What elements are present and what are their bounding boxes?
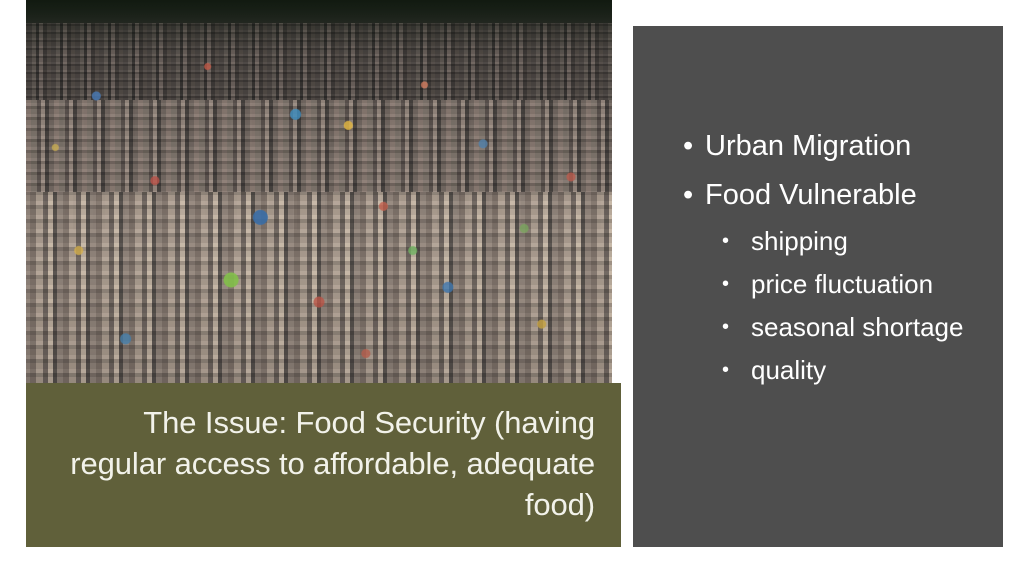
list-item: • Urban Migration [647,122,989,171]
slide-canvas: The Issue: Food Security (having regular… [0,0,1024,576]
list-item-label: price fluctuation [751,269,933,299]
hillside-city-photo [26,0,612,383]
bullet-point-icon: • [722,220,729,263]
list-item: • shipping [647,220,989,263]
list-item: • seasonal shortage [647,306,989,349]
bullet-list: • Urban Migration • Food Vulnerable • sh… [647,122,989,392]
bullet-point-icon: • [683,122,693,171]
list-item: • Food Vulnerable [647,171,989,220]
title-box: The Issue: Food Security (having regular… [26,383,621,547]
list-item: • price fluctuation [647,263,989,306]
bullet-point-icon: • [722,349,729,392]
list-item: • quality [647,349,989,392]
bullet-point-icon: • [683,171,693,220]
list-item-label: seasonal shortage [751,312,963,342]
list-item-label: Urban Migration [705,130,911,162]
list-item-label: quality [751,355,826,385]
bullet-point-icon: • [722,263,729,306]
photo-colored-houses [26,15,612,383]
bullet-point-icon: • [722,306,729,349]
slide-title: The Issue: Food Security (having regular… [52,402,595,525]
list-item-label: Food Vulnerable [705,179,917,211]
list-item-label: shipping [751,226,848,256]
content-panel: • Urban Migration • Food Vulnerable • sh… [633,26,1003,547]
